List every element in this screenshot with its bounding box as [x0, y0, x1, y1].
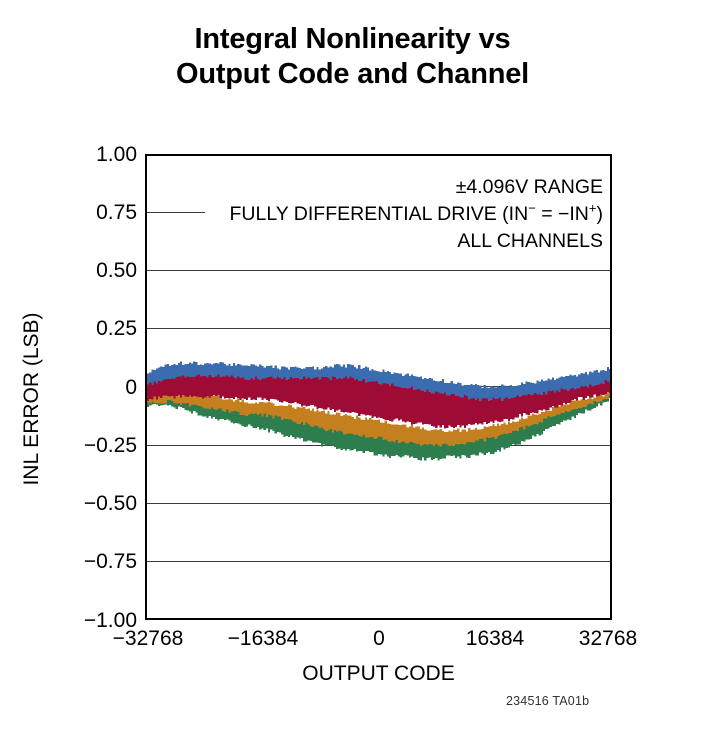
x-tick-32768: 32768	[548, 628, 668, 650]
annotation-channels: ALL CHANNELS	[229, 228, 603, 255]
y-tick-0.50: 0.50	[37, 260, 137, 281]
x-tick--16384: −16384	[203, 628, 323, 650]
y-tick-1.00: 1.00	[37, 144, 137, 165]
annotation-drive: FULLY DIFFERENTIAL DRIVE (IN− = −IN+)	[229, 201, 603, 228]
x-tick-0: 0	[319, 628, 439, 650]
x-tick-16384: 16384	[435, 628, 555, 650]
y-tick--0.75: −0.75	[37, 551, 137, 572]
annotation-sup-minus: −	[528, 201, 536, 216]
x-tick--32768: −32768	[88, 628, 208, 650]
annotation-range: ±4.096V RANGE	[229, 174, 603, 201]
y-axis-title: INL ERROR (LSB)	[20, 249, 44, 549]
y-tick-0: 0	[37, 377, 137, 398]
y-tick--0.50: −0.50	[37, 493, 137, 514]
plot-area: ±4.096V RANGE FULLY DIFFERENTIAL DRIVE (…	[145, 154, 612, 620]
y-tick-0.75: 0.75	[37, 202, 137, 223]
y-tick-0.25: 0.25	[37, 318, 137, 339]
x-axis-title: OUTPUT CODE	[145, 662, 612, 686]
annotation-sup-plus: +	[589, 201, 597, 216]
figure-code: 234516 TA01b	[506, 694, 589, 708]
x-axis-tick-labels: −32768 −16384 0 16384 32768	[0, 628, 705, 654]
y-tick--0.25: −0.25	[37, 435, 137, 456]
plot-annotation: ±4.096V RANGE FULLY DIFFERENTIAL DRIVE (…	[229, 174, 603, 255]
